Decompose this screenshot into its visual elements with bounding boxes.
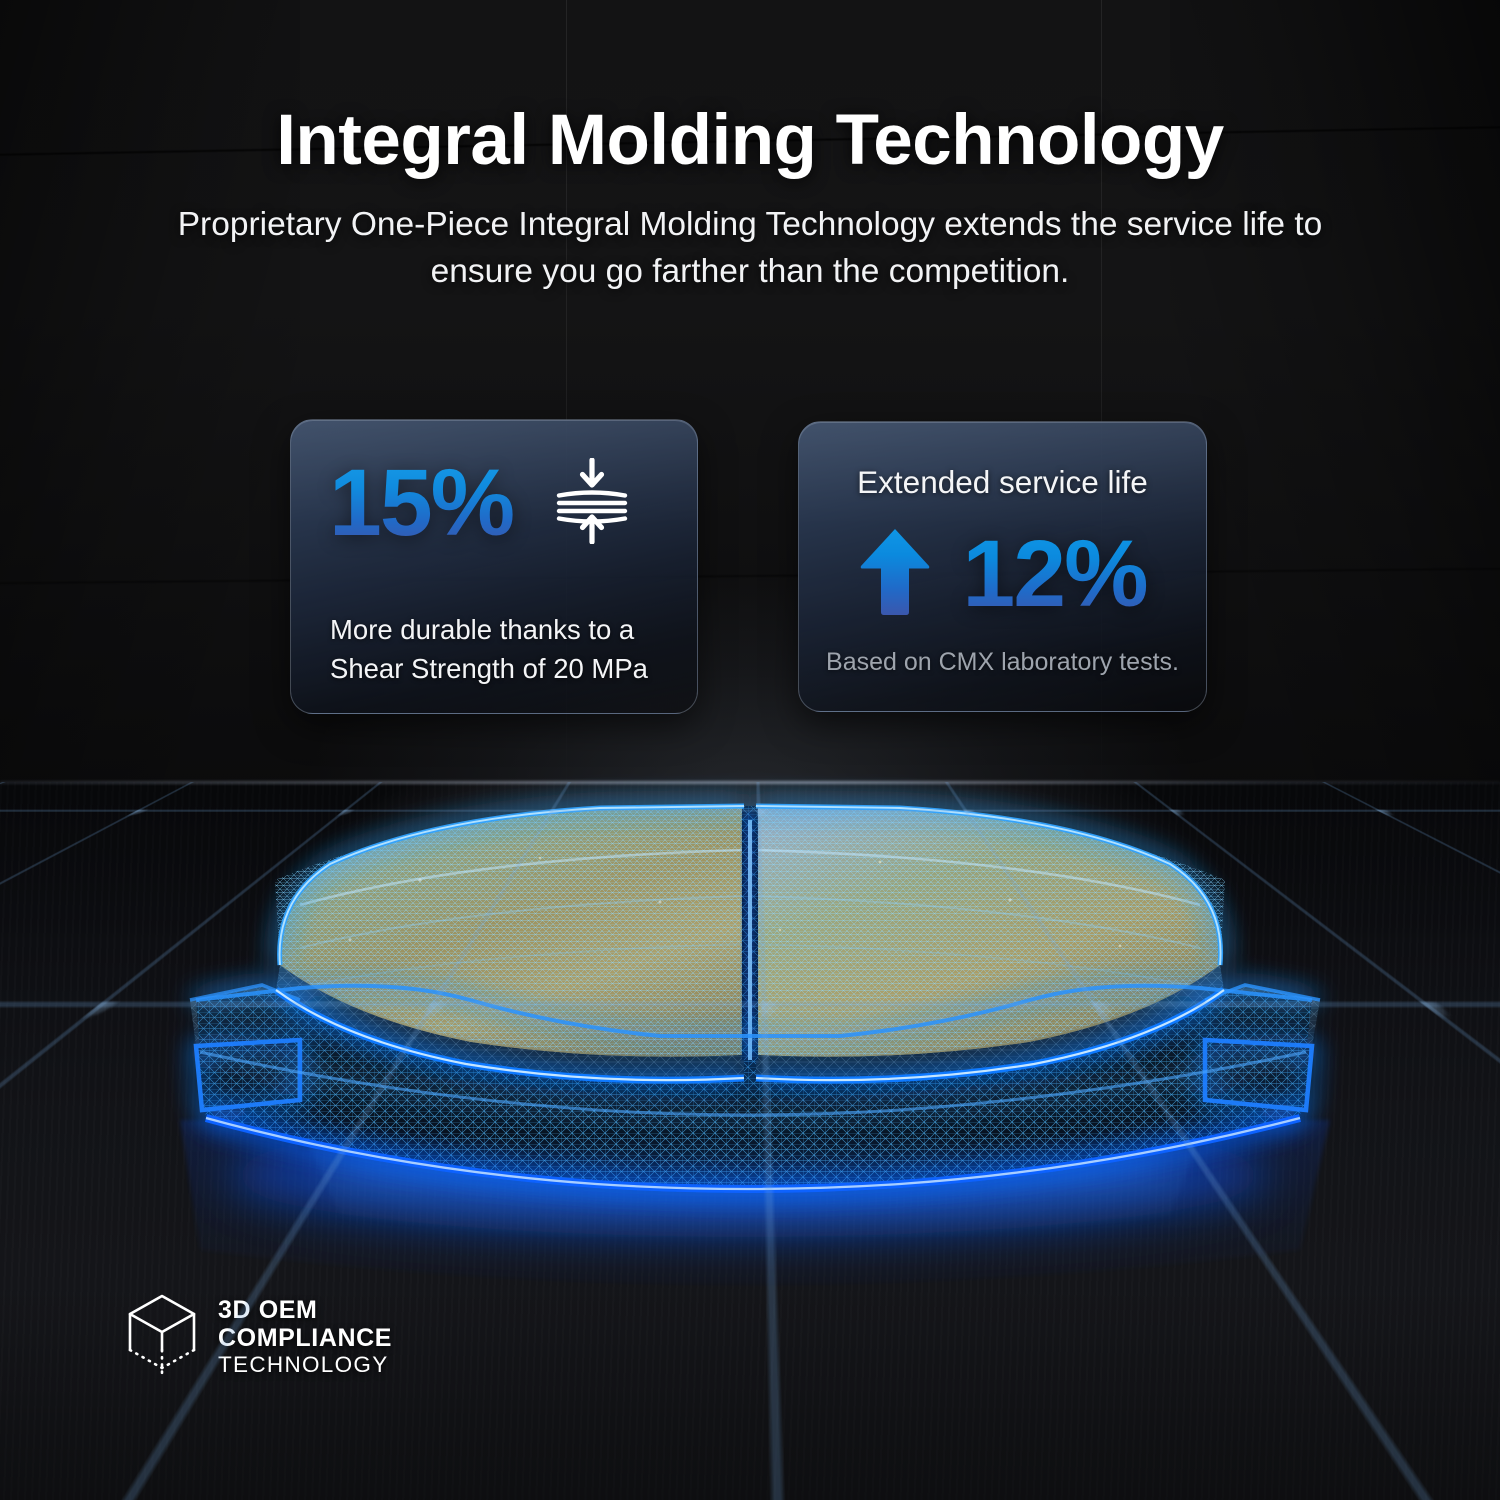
arrow-up-icon (858, 526, 932, 623)
stat-headline-row: 12% (799, 526, 1206, 623)
logo-line-2: COMPLIANCE (218, 1326, 392, 1351)
page-title: Integral Molding Technology (0, 104, 1500, 179)
compression-icon (555, 458, 629, 549)
wireframe-cube-icon (124, 1292, 200, 1383)
durability-value: 15% (329, 460, 513, 547)
service-life-title: Extended service life (799, 464, 1206, 501)
service-life-note: Based on CMX laboratory tests. (799, 648, 1206, 677)
stat-card-service-life[interactable]: Extended service life (798, 421, 1207, 712)
promo-graphic-canvas: Integral Molding Technology Proprietary … (0, 0, 1500, 1500)
logo-line-1: 3D OEM (218, 1298, 392, 1323)
stat-card-durability[interactable]: 15% (290, 419, 698, 714)
stat-headline-row: 15% (329, 458, 629, 549)
service-life-value: 12% (962, 531, 1146, 618)
logo-lockup: 3D OEM COMPLIANCE TECHNOLOGY (124, 1292, 392, 1383)
horizon-line (0, 781, 1500, 784)
page-subtitle: Proprietary One-Piece Integral Molding T… (125, 201, 1375, 296)
logo-line-3: TECHNOLOGY (218, 1354, 392, 1377)
studio-floor (0, 782, 1500, 1500)
durability-caption: More durable thanks to a Shear Strength … (330, 610, 660, 688)
header-block: Integral Molding Technology Proprietary … (0, 0, 1500, 296)
